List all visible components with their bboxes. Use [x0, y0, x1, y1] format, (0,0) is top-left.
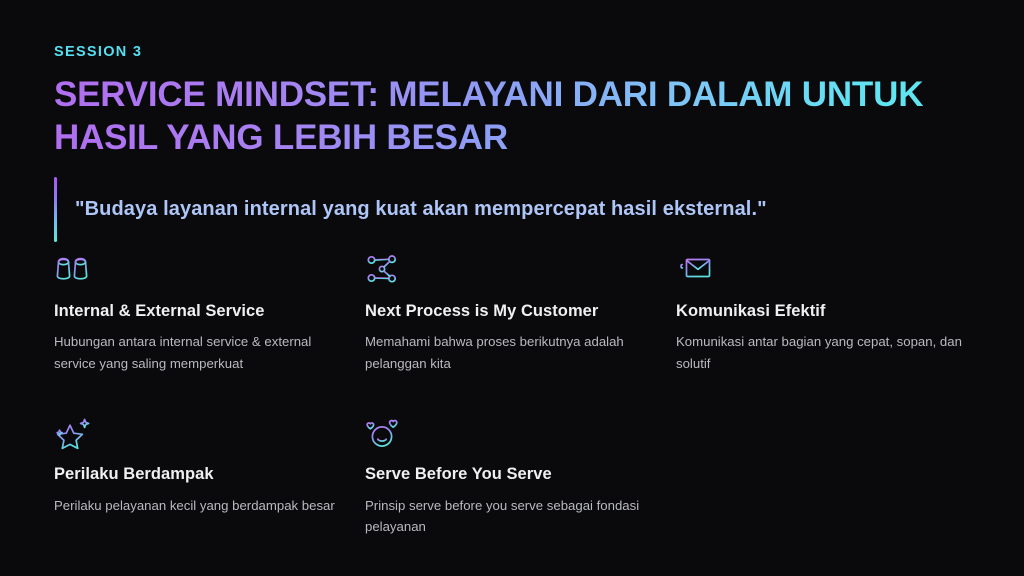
quote-block: "Budaya layanan internal yang kuat akan … — [54, 177, 767, 242]
star-sparkle-icon — [54, 416, 365, 456]
feature-title: Perilaku Berdampak — [54, 464, 365, 485]
feature-title: Serve Before You Serve — [365, 464, 676, 485]
feature-card: Perilaku Berdampak Perilaku pelayanan ke… — [54, 416, 365, 537]
feature-card: Internal & External Service Hubungan ant… — [54, 253, 365, 374]
feature-card: Komunikasi Efektif Komunikasi antar bagi… — [676, 253, 974, 374]
slide-root: SESSION 3 SERVICE MINDSET: MELAYANI DARI… — [0, 0, 1024, 576]
feature-title: Internal & External Service — [54, 301, 365, 322]
feature-card: Next Process is My Customer Memahami bah… — [365, 253, 676, 374]
slide-header: SESSION 3 SERVICE MINDSET: MELAYANI DARI… — [54, 44, 970, 160]
smiley-hearts-icon — [365, 416, 676, 456]
node-graph-icon — [365, 253, 676, 293]
feature-grid: Internal & External Service Hubungan ant… — [54, 253, 974, 537]
quote-text: "Budaya layanan internal yang kuat akan … — [57, 177, 767, 242]
feature-description: Komunikasi antar bagian yang cepat, sopa… — [676, 331, 966, 374]
feature-title: Komunikasi Efektif — [676, 301, 974, 322]
feature-card: Serve Before You Serve Prinsip serve bef… — [365, 416, 676, 537]
session-eyebrow: SESSION 3 — [54, 44, 970, 61]
envelope-icon — [676, 253, 974, 293]
feature-description: Prinsip serve before you serve sebagai f… — [365, 495, 655, 538]
feature-description: Perilaku pelayanan kecil yang berdampak … — [54, 495, 344, 516]
feature-description: Hubungan antara internal service & exter… — [54, 331, 344, 374]
page-title: SERVICE MINDSET: MELAYANI DARI DALAM UNT… — [54, 74, 954, 159]
feature-title: Next Process is My Customer — [365, 301, 676, 322]
binoculars-icon — [54, 253, 365, 293]
feature-description: Memahami bahwa proses berikutnya adalah … — [365, 331, 655, 374]
